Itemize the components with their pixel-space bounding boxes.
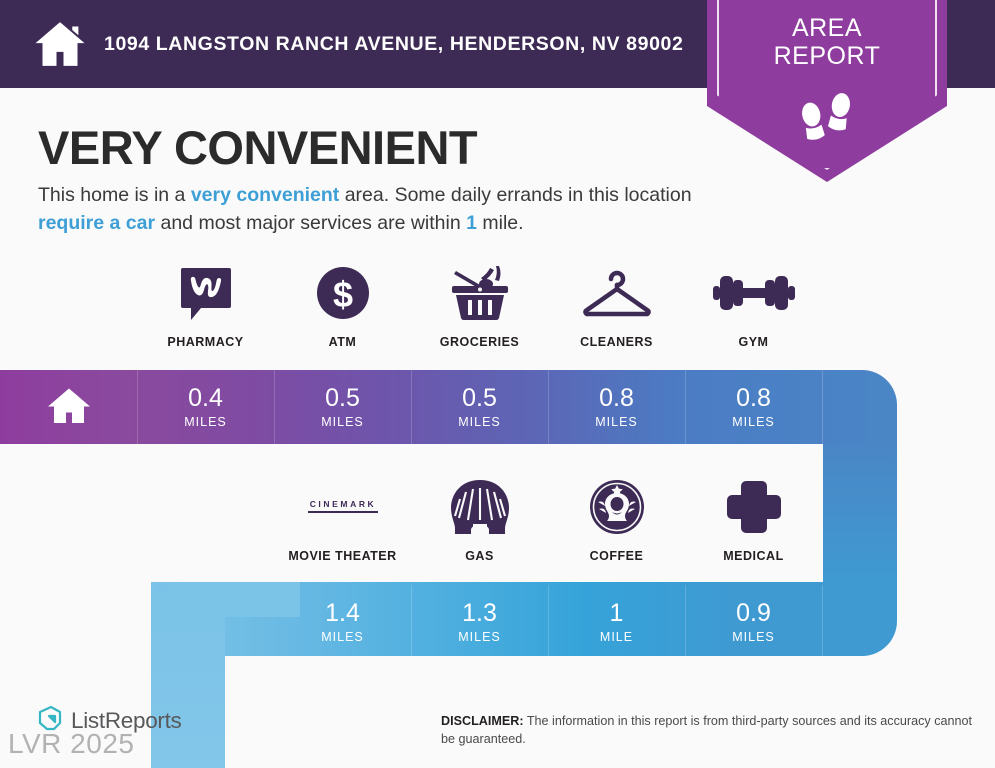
distance-cell-atm: 0.5 MILES — [274, 370, 411, 444]
house-icon — [32, 16, 88, 72]
distance-cell-groceries: 0.5 MILES — [411, 370, 548, 444]
amenity-label: PHARMACY — [167, 335, 243, 349]
distance-unit: MILES — [732, 630, 775, 644]
intro-highlight-2: require a car — [38, 212, 155, 234]
distance-value: 0.5 — [462, 386, 497, 411]
walgreens-w-icon — [177, 262, 235, 324]
amenity-medical: MEDICAL — [685, 476, 822, 563]
svg-text:CINEMARK: CINEMARK — [309, 499, 376, 509]
distance-value: 1 — [610, 601, 624, 626]
distance-cell-coffee: 1 MILE — [548, 585, 685, 659]
distance-unit: MILES — [595, 415, 638, 429]
distance-value: 0.5 — [325, 386, 360, 411]
distance-value: 1.4 — [325, 601, 360, 626]
intro-paragraph: This home is in a very convenient area. … — [38, 182, 703, 237]
badge-title-line1: AREA — [707, 14, 947, 42]
distance-cell-cleaners: 0.8 MILES — [548, 370, 685, 444]
distance-unit: MILES — [321, 415, 364, 429]
home-marker-cell — [0, 370, 137, 444]
intro-part-1: This home is in a — [38, 184, 191, 206]
distance-unit: MILES — [458, 630, 501, 644]
amenity-label: MEDICAL — [723, 549, 783, 563]
amenity-gym: GYM — [685, 262, 822, 349]
amenity-label: ATM — [329, 335, 357, 349]
distance-bar-row-2: 1.4 MILES 1.3 MILES 1 MILE 0.9 MILES — [0, 585, 995, 659]
distance-unit: MILES — [458, 415, 501, 429]
dumbbell-icon — [713, 262, 795, 324]
intro-part-3: and most major services are within — [155, 212, 466, 234]
distance-cell-gas: 1.3 MILES — [411, 585, 548, 659]
amenity-label: CLEANERS — [580, 335, 653, 349]
area-report-page: 1094 LANGSTON RANCH AVENUE, HENDERSON, N… — [0, 0, 995, 768]
watermark: LVR 2025 — [8, 728, 134, 760]
amenity-coffee: COFFEE — [548, 476, 685, 563]
amenity-label: GROCERIES — [440, 335, 520, 349]
distance-cell-gym: 0.8 MILES — [685, 370, 822, 444]
amenity-movie-theater: CINEMARK MOVIE THEATER — [274, 476, 411, 563]
amenity-gas: GAS — [411, 476, 548, 563]
area-report-badge: AREA REPORT — [707, 0, 947, 182]
amenity-label: MOVIE THEATER — [288, 549, 396, 563]
amenity-label: GYM — [739, 335, 769, 349]
amenity-label: GAS — [465, 549, 494, 563]
distance-value: 0.4 — [188, 386, 223, 411]
distance-bar-row-1: 0.4 MILES 0.5 MILES 0.5 MILES 0.8 MILES … — [0, 370, 995, 444]
amenity-icon-row-1: PHARMACY $ ATM — [0, 262, 995, 349]
cinemark-logo-icon: CINEMARK — [300, 476, 386, 538]
property-address: 1094 LANGSTON RANCH AVENUE, HENDERSON, N… — [104, 33, 683, 56]
intro-part-4: mile. — [477, 212, 524, 234]
intro-highlight-3: 1 — [466, 212, 477, 234]
amenity-pharmacy: PHARMACY — [137, 262, 274, 349]
distance-unit: MILES — [732, 415, 775, 429]
intro-highlight-1: very convenient — [191, 184, 339, 206]
clothes-hanger-icon — [581, 262, 653, 324]
shell-logo-icon — [449, 476, 511, 538]
badge-title: AREA REPORT — [707, 14, 947, 70]
distance-value: 0.8 — [736, 386, 771, 411]
starbucks-logo-icon — [588, 476, 646, 538]
distance-cell-movie-theater: 1.4 MILES — [274, 585, 411, 659]
amenity-icon-row-2: CINEMARK MOVIE THEATER — [0, 476, 995, 563]
distance-value: 0.8 — [599, 386, 634, 411]
badge-title-line2: REPORT — [707, 42, 947, 70]
distance-value: 1.3 — [462, 601, 497, 626]
dollar-circle-icon: $ — [314, 262, 372, 324]
disclaimer: DISCLAIMER: The information in this repo… — [441, 712, 981, 749]
distance-cell-medical: 0.9 MILES — [685, 585, 822, 659]
distance-unit: MILE — [600, 630, 633, 644]
page-title: VERY CONVENIENT — [38, 120, 477, 175]
house-icon — [45, 381, 93, 434]
amenity-cleaners: CLEANERS — [548, 262, 685, 349]
intro-part-2: area. Some daily errands in this locatio… — [339, 184, 691, 206]
amenity-groceries: GROCERIES — [411, 262, 548, 349]
amenity-label: COFFEE — [590, 549, 644, 563]
distance-cell-pharmacy: 0.4 MILES — [137, 370, 274, 444]
distance-value: 0.9 — [736, 601, 771, 626]
distance-unit: MILES — [321, 630, 364, 644]
footprints-icon — [707, 88, 947, 151]
grocery-basket-icon — [450, 262, 510, 324]
disclaimer-label: DISCLAIMER: — [441, 714, 524, 728]
medical-cross-icon — [726, 476, 782, 538]
svg-text:$: $ — [332, 274, 352, 315]
amenity-atm: $ ATM — [274, 262, 411, 349]
distance-unit: MILES — [184, 415, 227, 429]
